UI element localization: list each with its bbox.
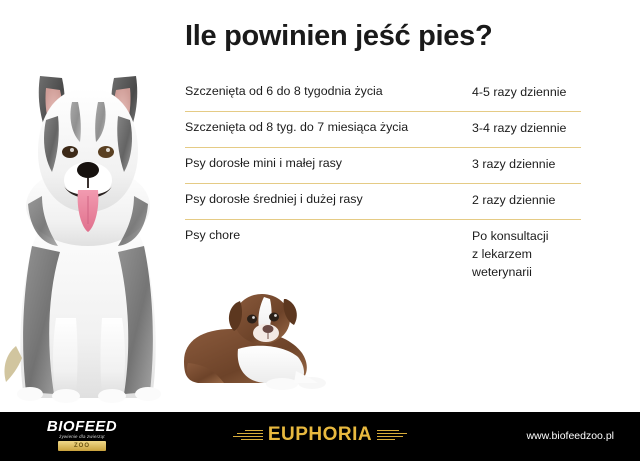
table-row: Psy dorosłe mini i małej rasy 3 razy dzi…	[185, 147, 581, 183]
puppy-dog-photo	[178, 283, 336, 395]
speed-lines-left-icon	[233, 430, 263, 441]
row-frequency: 2 razy dziennie	[472, 192, 581, 210]
biofeed-logo[interactable]: BIOFEED żywienie dla zwierząt ZOO	[34, 419, 130, 451]
row-frequency: Po konsultacji z lekarzem weterynarii	[472, 228, 581, 282]
row-category: Szczenięta od 6 do 8 tygodnia życia	[185, 84, 472, 100]
row-frequency: 3-4 razy dziennie	[472, 120, 581, 138]
page-title: Ile powinien jeść pies?	[185, 20, 492, 53]
biofeed-zoo-badge: ZOO	[58, 441, 106, 451]
table-row: Psy dorosłe średniej i dużej rasy 2 razy…	[185, 183, 581, 219]
row-category: Psy chore	[185, 228, 472, 244]
speed-lines-right-icon	[377, 430, 407, 441]
table-row: Psy chore Po konsultacji z lekarzem wete…	[185, 219, 581, 291]
row-frequency: 4-5 razy dziennie	[472, 84, 581, 102]
footer-bar: BIOFEED żywienie dla zwierząt ZOO EUPHOR…	[0, 412, 640, 461]
row-category: Psy dorosłe mini i małej rasy	[185, 156, 472, 172]
feeding-frequency-table: Szczenięta od 6 do 8 tygodnia życia 4-5 …	[185, 82, 581, 291]
biofeed-wordmark: BIOFEED	[34, 419, 130, 434]
biofeed-tagline: żywienie dla zwierząt	[34, 435, 130, 439]
husky-dog-photo	[2, 46, 174, 406]
euphoria-logo[interactable]: EUPHORIA	[225, 424, 415, 446]
row-category: Psy dorosłe średniej i dużej rasy	[185, 192, 472, 208]
euphoria-wordmark: EUPHORIA	[268, 424, 372, 446]
table-row: Szczenięta od 8 tyg. do 7 miesiąca życia…	[185, 111, 581, 147]
table-row: Szczenięta od 6 do 8 tygodnia życia 4-5 …	[185, 82, 581, 111]
row-category: Szczenięta od 8 tyg. do 7 miesiąca życia	[185, 120, 472, 136]
infographic-canvas: Ile powinien jeść pies? Szczenięta od 6 …	[0, 0, 640, 461]
row-frequency: 3 razy dziennie	[472, 156, 581, 174]
footer-website-link[interactable]: www.biofeedzoo.pl	[526, 430, 614, 442]
